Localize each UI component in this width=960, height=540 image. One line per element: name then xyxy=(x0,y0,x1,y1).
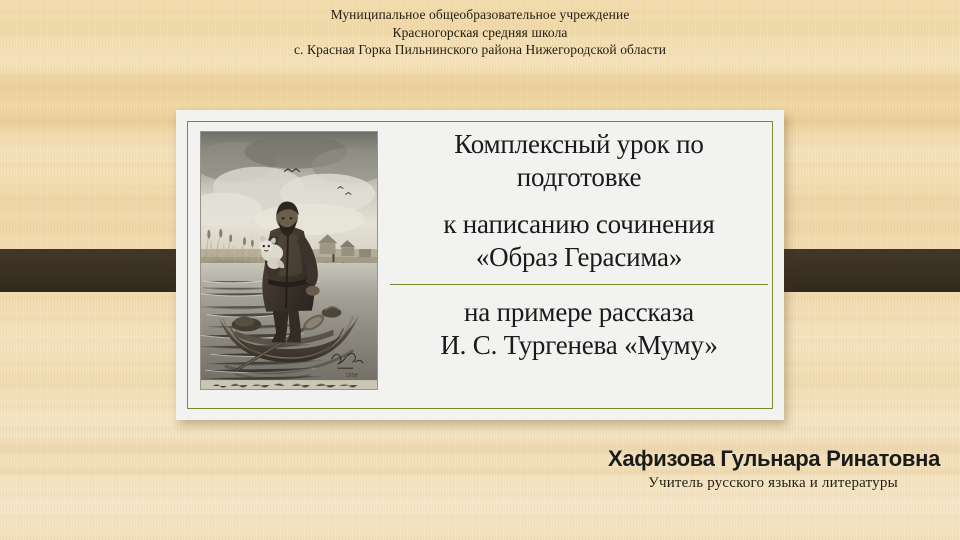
card-body: 1898 Комплекс xyxy=(176,110,784,420)
school-header-line-1: Муниципальное общеобразовательное учрежд… xyxy=(0,6,960,24)
school-header-line-2: Красногорская средняя школа xyxy=(0,24,960,42)
title-group-2: к написанию сочинения «Образ Герасима» xyxy=(390,208,768,274)
title-line-5: на примере рассказа xyxy=(390,296,768,329)
gerasim-in-boat-illustration: 1898 xyxy=(200,131,378,390)
slide-title-block: Комплексный урок по подготовке к написан… xyxy=(390,126,768,362)
title-group-1: Комплексный урок по подготовке xyxy=(390,128,768,194)
school-header-line-3: с. Красная Горка Пильнинского района Ниж… xyxy=(0,41,960,59)
title-card: 1898 Комплекс xyxy=(176,110,784,420)
title-line-1: Комплексный урок по xyxy=(390,128,768,161)
title-line-6: И. С. Тургенева «Муму» xyxy=(390,329,768,362)
presentation-slide: Муниципальное общеобразовательное учрежд… xyxy=(0,0,960,540)
title-divider-rule xyxy=(390,284,768,285)
title-group-3: на примере рассказа И. С. Тургенева «Мум… xyxy=(390,296,768,362)
author-name: Хафизова Гульнара Ринатовна xyxy=(608,446,938,472)
title-line-3: к написанию сочинения xyxy=(390,208,768,241)
author-credit: Хафизова Гульнара Ринатовна Учитель русс… xyxy=(608,446,938,493)
decorative-ribbon-left xyxy=(0,249,196,292)
author-role: Учитель русского языка и литературы xyxy=(608,473,938,493)
decorative-ribbon-right xyxy=(764,249,960,292)
school-header: Муниципальное общеобразовательное учрежд… xyxy=(0,6,960,59)
title-line-4: «Образ Герасима» xyxy=(390,241,768,274)
title-line-2: подготовке xyxy=(390,161,768,194)
svg-text:1898: 1898 xyxy=(345,373,358,379)
